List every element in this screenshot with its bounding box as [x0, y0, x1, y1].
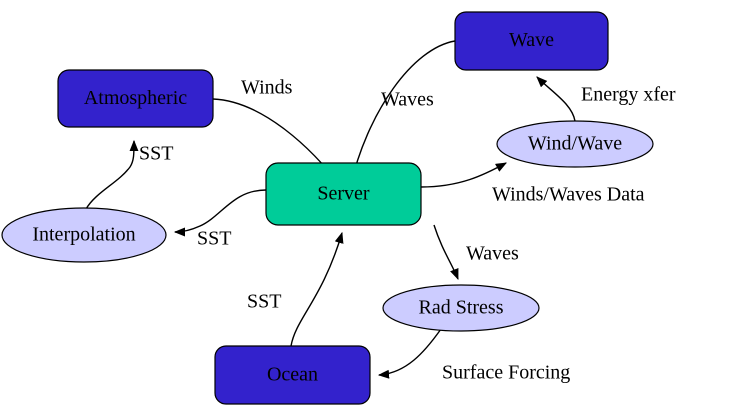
dataflow-diagram: Winds Waves Winds/Waves Data Energy xfer… [0, 0, 743, 420]
node-server[interactable]: Server [266, 163, 421, 225]
diagram-canvas: Winds Waves Winds/Waves Data Energy xfer… [0, 0, 743, 420]
edge-label-winds: Winds [241, 77, 293, 99]
edge-ocean-to-server: SST [247, 233, 342, 346]
edge-server-to-windwave: Winds/Waves Data [421, 163, 645, 206]
edge-label-sst-ocean-server: SST [247, 291, 281, 313]
edge-path-waves-to-radstress [434, 225, 458, 279]
edge-label-sst-interpolation-atmospheric: SST [139, 143, 173, 165]
node-atmospheric-label: Atmospheric [84, 87, 187, 109]
node-atmospheric[interactable]: Atmospheric [58, 70, 213, 127]
node-server-label: Server [317, 183, 370, 205]
node-wave-label: Wave [509, 29, 554, 51]
edge-label-waves-to-radstress: Waves [466, 243, 519, 265]
node-wave[interactable]: Wave [455, 12, 608, 70]
edge-path-surface-forcing [379, 329, 441, 375]
edge-label-sst-server-interpolation: SST [197, 228, 231, 250]
node-interpolation[interactable]: Interpolation [2, 208, 166, 262]
node-rad-stress-label: Rad Stress [419, 297, 504, 319]
edge-label-energy-xfer: Energy xfer [581, 84, 676, 106]
edge-label-surface-forcing: Surface Forcing [442, 362, 570, 384]
edge-interpolation-to-atmospheric: SST [86, 141, 173, 209]
edge-label-waves-to-server: Waves [381, 89, 434, 111]
node-interpolation-label: Interpolation [32, 224, 135, 246]
edge-path-sst-interpolation-atmospheric [86, 141, 134, 209]
node-ocean-label: Ocean [267, 364, 318, 386]
edge-path-sst-server-interpolation [175, 190, 266, 232]
edge-radstress-to-ocean: Surface Forcing [379, 329, 570, 384]
node-ocean[interactable]: Ocean [215, 346, 370, 404]
edge-windwave-to-wave: Energy xfer [537, 77, 676, 121]
edge-path-sst-ocean-server [291, 233, 342, 346]
node-rad-stress[interactable]: Rad Stress [383, 285, 539, 331]
edge-server-to-radstress: Waves [434, 225, 519, 279]
edge-server-to-interpolation: SST [175, 190, 266, 250]
node-wind-wave-label: Wind/Wave [528, 133, 622, 155]
edge-path-energy-xfer [537, 77, 575, 121]
node-wind-wave[interactable]: Wind/Wave [497, 121, 653, 167]
edge-label-winds-waves-data: Winds/Waves Data [492, 184, 645, 206]
